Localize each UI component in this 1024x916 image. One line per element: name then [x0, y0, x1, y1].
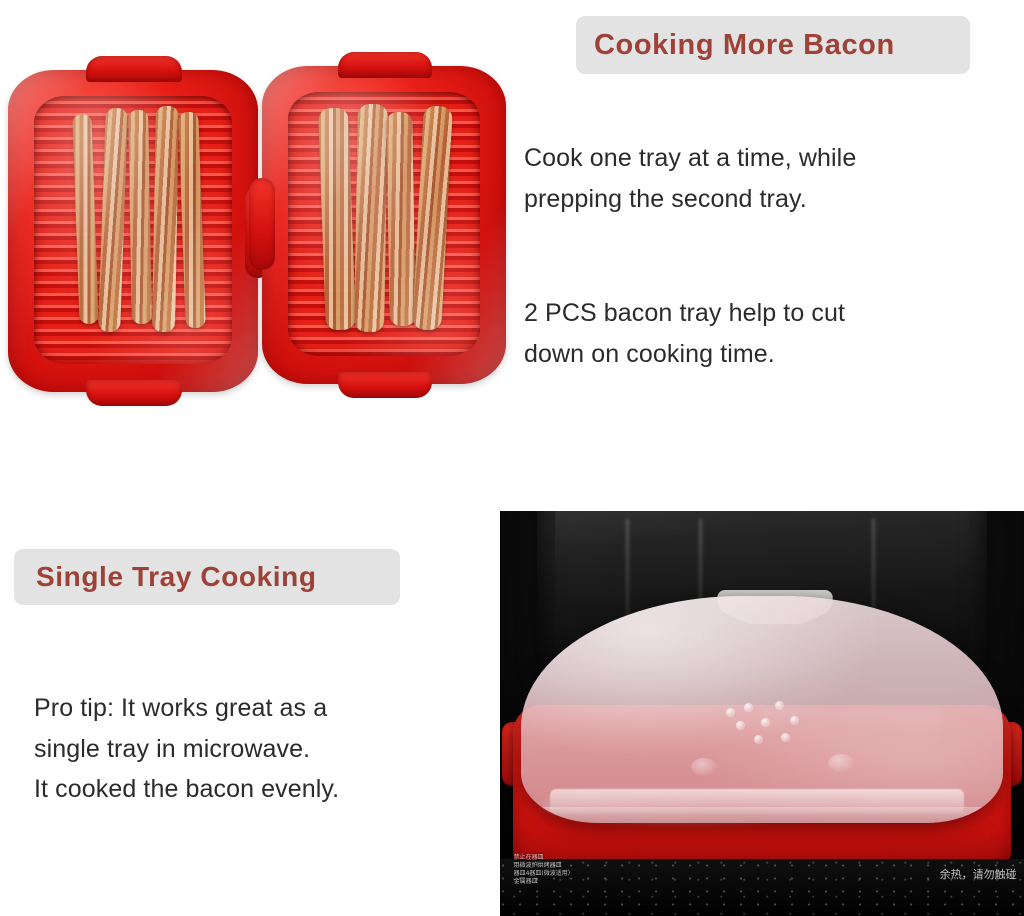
tray-handle-tab-top: [86, 56, 182, 82]
bacon-strip: [318, 108, 356, 331]
microwave-warning-decal-right: 余热，请勿触碰: [940, 868, 1017, 883]
section-paragraph-two-pcs: 2 PCS bacon tray help to cut down on coo…: [524, 293, 1020, 374]
two-bacon-trays-photo: [0, 44, 512, 444]
section-paragraph-pro-tip: Pro tip: It works great as a single tray…: [34, 688, 486, 810]
microwave-warning-decal-left: 禁止在器皿 用微波炉烘烤器皿 器皿4器皿(微波适用） 金属器皿: [514, 854, 624, 886]
translucent-vented-lid: [521, 596, 1003, 823]
bacon-strip: [386, 112, 416, 326]
page-title: Cooking More Bacon: [594, 29, 895, 62]
bacon-strip: [152, 106, 179, 332]
bacon-strip: [98, 108, 128, 333]
lid-dimple: [754, 735, 763, 744]
bacon-tray-right: [262, 66, 506, 384]
bacon-strip: [128, 110, 152, 324]
tray-handle-tab-top: [338, 52, 432, 78]
bacon-strip: [354, 104, 388, 332]
bacon-strip: [72, 114, 98, 325]
tray-ribbed-well: [288, 92, 480, 356]
microwave-interior-photo: 禁止在器皿 用微波炉烘烤器皿 器皿4器皿(微波适用） 金属器皿 余热，请勿触碰: [500, 511, 1024, 916]
tray-handle-tab-left: [249, 178, 275, 270]
bacon-strip: [412, 105, 453, 330]
lid-dimple: [775, 701, 784, 710]
tray-handle-tab-bottom: [338, 372, 432, 398]
lid-support-bump-right: [828, 754, 854, 772]
bacon-strip: [178, 112, 206, 329]
lid-rim-lip: [526, 807, 998, 823]
section-paragraph-cook-one-tray: Cook one tray at a time, while prepping …: [524, 138, 1020, 219]
bacon-tray-left: [8, 70, 258, 392]
section-title: Single Tray Cooking: [36, 561, 317, 593]
lid-dimple: [736, 721, 745, 730]
section-heading-badge-cooking-more-bacon: Cooking More Bacon: [576, 16, 970, 74]
lid-dimple: [744, 703, 753, 712]
lid-dimple: [781, 733, 790, 742]
tray-ribbed-well: [34, 96, 232, 364]
tray-handle-tab-bottom: [86, 380, 182, 406]
section-heading-badge-single-tray-cooking: Single Tray Cooking: [14, 549, 400, 605]
